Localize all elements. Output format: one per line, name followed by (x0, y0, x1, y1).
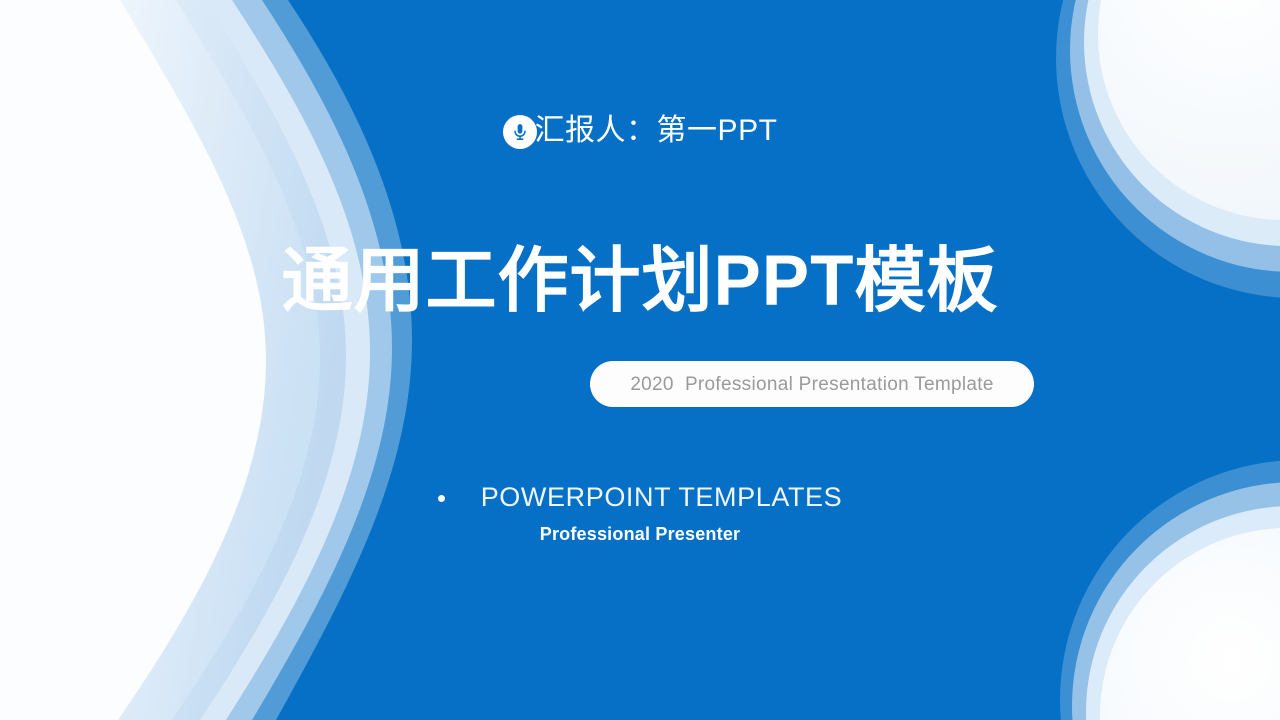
bullet-dot-icon (438, 495, 445, 502)
microphone-icon (503, 115, 537, 149)
footer-primary-label: POWERPOINT TEMPLATES (481, 484, 843, 511)
slide-background (0, 0, 1280, 720)
presenter-label: 汇报人：第一PPT (535, 116, 778, 146)
presenter-row: 汇报人：第一PPT (0, 114, 1280, 148)
title-slide: 汇报人：第一PPT 通用工作计划PPT模板 2020 Professional … (0, 0, 1280, 720)
footer-block: POWERPOINT TEMPLATES Professional Presen… (0, 484, 1280, 545)
left-wave-ribbon (0, 0, 412, 720)
subtitle-pill-text: 2020 Professional Presentation Template (630, 375, 993, 394)
footer-secondary-label: Professional Presenter (0, 524, 1280, 545)
background-decoration (0, 0, 1280, 720)
footer-primary-row: POWERPOINT TEMPLATES (0, 484, 1280, 511)
subtitle-pill: 2020 Professional Presentation Template (590, 361, 1034, 407)
page-title: 通用工作计划PPT模板 (0, 243, 1280, 321)
